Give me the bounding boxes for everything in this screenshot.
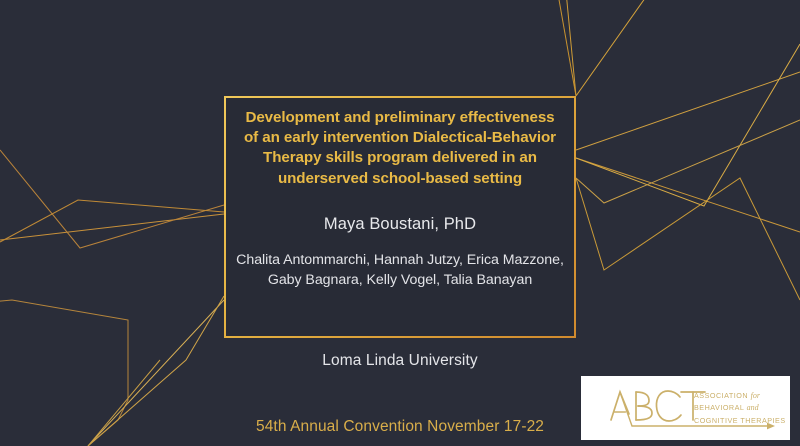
abct-tagline-line1: ASSOCIATION for xyxy=(694,391,760,400)
abct-tagline-line2: BEHAVIORAL and xyxy=(694,403,759,412)
institution-name: Loma Linda University xyxy=(0,352,800,370)
abct-logo: ASSOCIATION for BEHAVIORAL and COGNITIVE… xyxy=(581,376,790,440)
abct-tagline-line3: COGNITIVE THERAPIES xyxy=(694,416,786,425)
page-title: Development and preliminary effectivenes… xyxy=(241,108,559,189)
abct-tagline: ASSOCIATION for BEHAVIORAL and COGNITIVE… xyxy=(694,390,786,426)
presentation-slide: Development and preliminary effectivenes… xyxy=(0,0,800,446)
title-card: Development and preliminary effectivenes… xyxy=(224,96,576,338)
presenter-name: Maya Boustani, PhD xyxy=(324,215,476,234)
coauthor-list: Chalita Antommarchi, Hannah Jutzy, Erica… xyxy=(222,250,578,291)
